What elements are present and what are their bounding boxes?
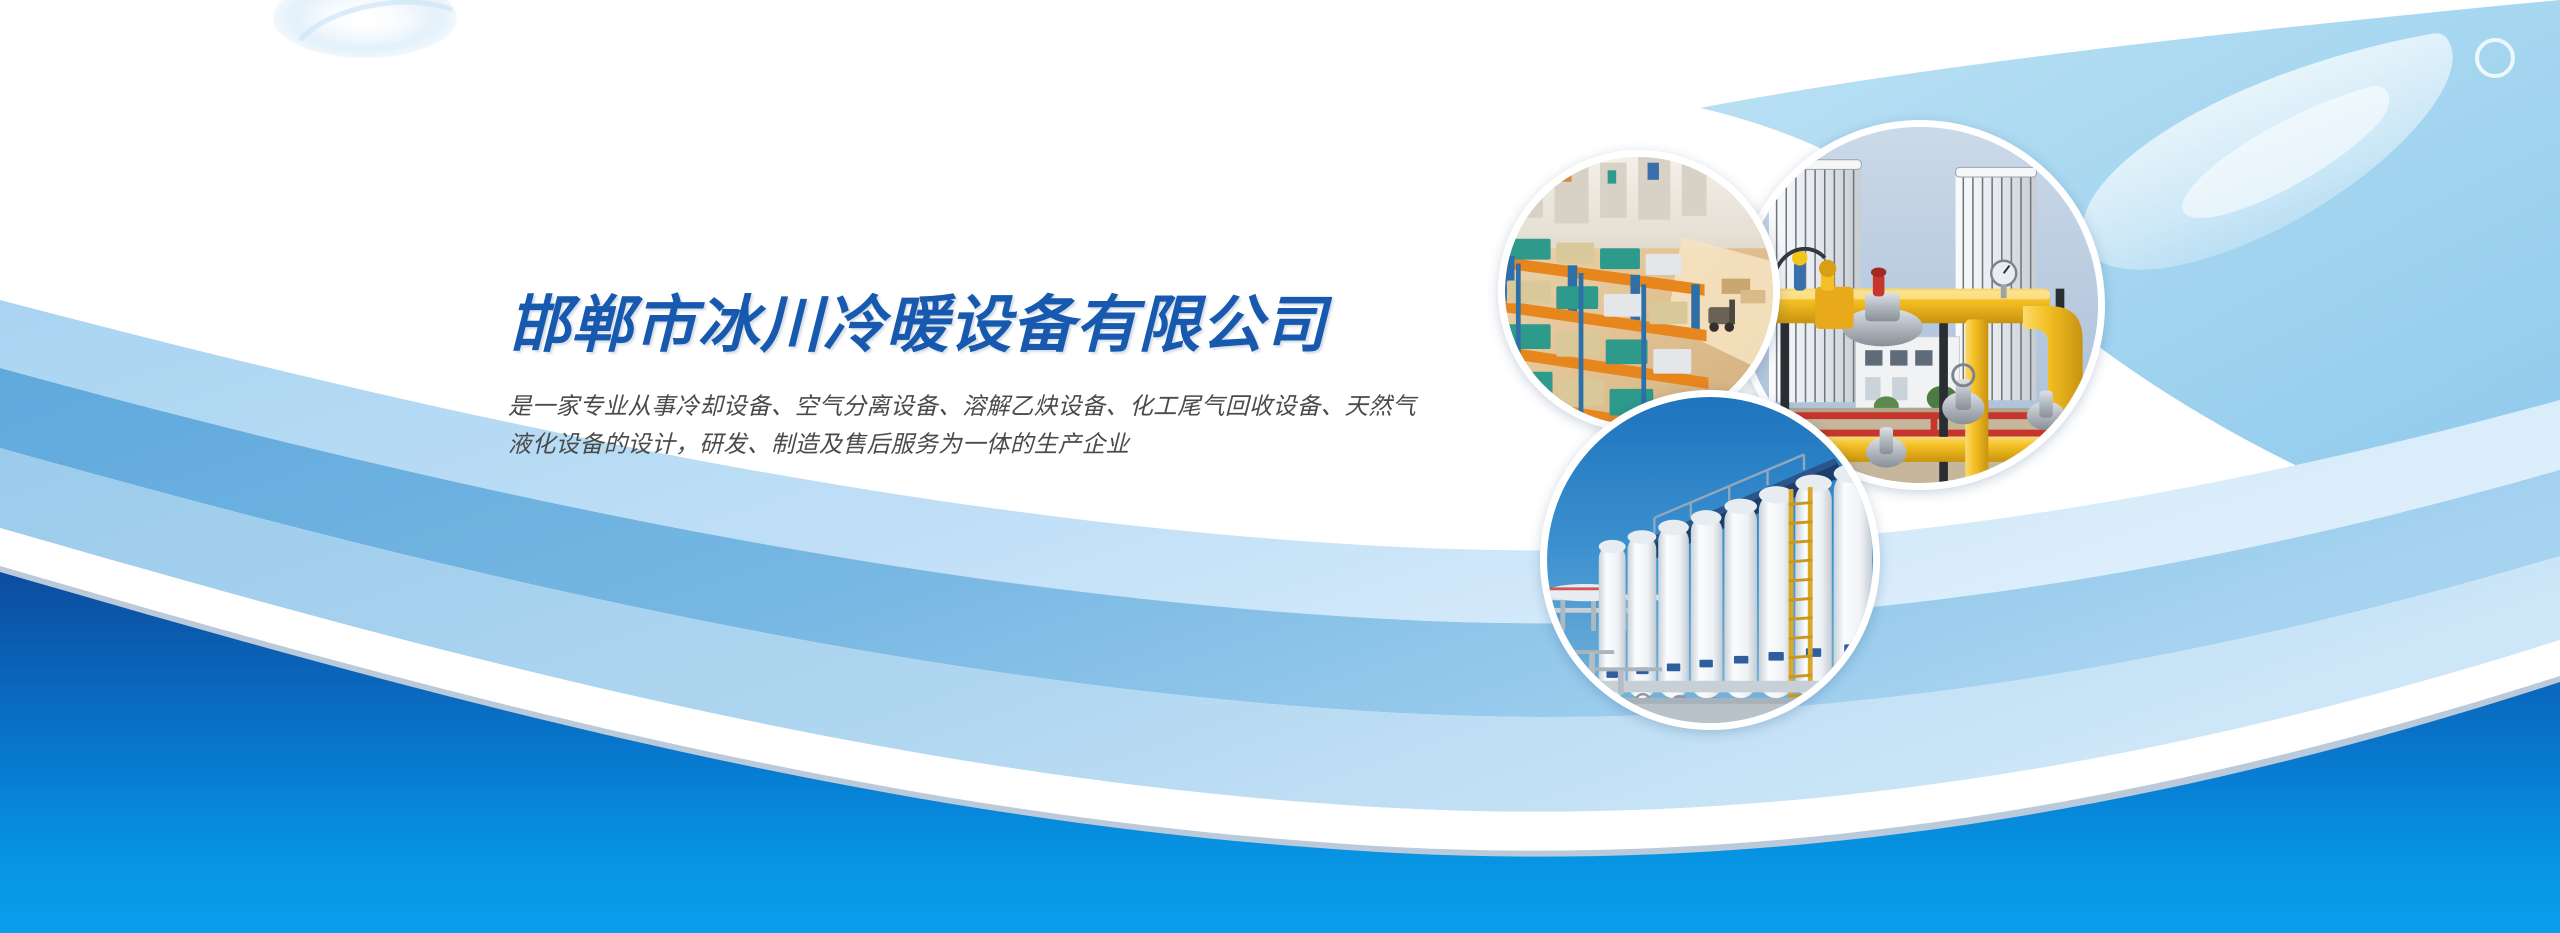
tank xyxy=(1724,499,1757,698)
tank xyxy=(1759,486,1794,698)
company-name-headline: 邯郸市冰川冷暖设备有限公司 xyxy=(508,292,1508,357)
banner-text-block: 邯郸市冰川冷暖设备有限公司 是一家专业从事冷却设备、空气分离设备、溶解乙炔设备、… xyxy=(508,292,1508,463)
description-line-2: 液化设备的设计，研发、制造及售后服务为一体的生产企业 xyxy=(508,425,1138,463)
hero-banner: 邯郸市冰川冷暖设备有限公司 是一家专业从事冷却设备、空气分离设备、溶解乙炔设备、… xyxy=(0,0,2560,933)
warehouse-illustration xyxy=(1505,157,1773,425)
tank xyxy=(1834,464,1872,698)
photo-collage xyxy=(1480,120,2160,800)
company-description: 是一家专业从事冷却设备、空气分离设备、溶解乙炔设备、化工尾气回收设备、天然气 液… xyxy=(508,387,1138,463)
cryogenic-tanks-illustration xyxy=(1547,397,1873,723)
tank xyxy=(1691,510,1723,698)
ground-marker xyxy=(1931,414,1938,433)
photo-circle-tanks[interactable] xyxy=(1540,390,1880,730)
tank xyxy=(1795,475,1831,698)
description-line-1: 是一家专业从事冷却设备、空气分离设备、溶解乙炔设备、化工尾气回收设备、天然气 xyxy=(508,387,1138,425)
background-graphic xyxy=(0,0,2560,933)
banner-background xyxy=(0,0,2560,933)
tank xyxy=(1658,520,1689,698)
photo-circle-warehouse[interactable] xyxy=(1498,150,1780,432)
